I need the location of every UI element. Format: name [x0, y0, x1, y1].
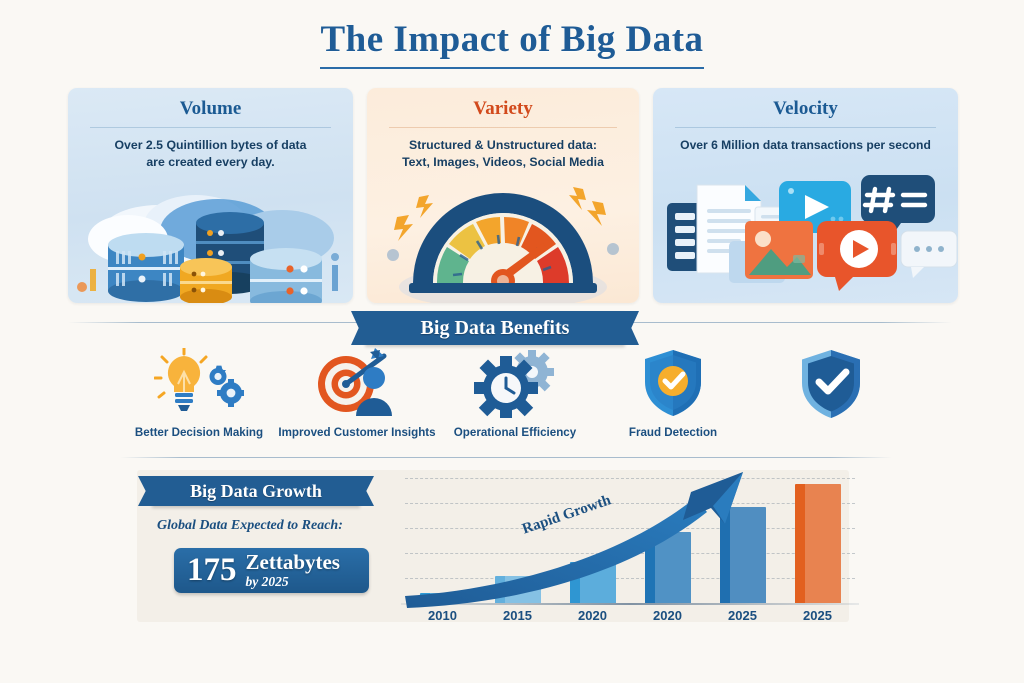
speedometer-gauge-icon	[367, 183, 639, 303]
growth-year: by 2025	[246, 574, 289, 589]
media-documents-video-chat-icon	[653, 183, 958, 303]
three-vs-card-row: Volume Over 2.5 Quintillion bytes of dat…	[68, 88, 958, 303]
benefits-row: Better Decision Making Improved Customer	[120, 348, 910, 453]
benefit-label: Better Decision Making	[135, 426, 263, 439]
card-volume: Volume Over 2.5 Quintillion bytes of dat…	[68, 88, 353, 303]
lightbulb-gears-icon	[154, 348, 244, 418]
card-velocity-heading: Velocity	[653, 88, 958, 127]
card-volume-heading: Volume	[68, 88, 353, 127]
benefit-item-fraud-detection[interactable]: Fraud Detection	[594, 348, 752, 453]
growth-subtitle: Global Data Expected to Reach:	[157, 518, 343, 534]
chart-bar-slot	[637, 478, 699, 603]
growth-value: 175	[187, 554, 237, 587]
card-variety-body-line2: Text, Images, Videos, Social Media	[379, 154, 627, 171]
chart-x-label: 2020	[562, 608, 624, 623]
chart-bar-highlight	[430, 593, 466, 603]
card-velocity-body: Over 6 Million data transactions per sec…	[653, 128, 958, 154]
growth-unit: Zettabytes	[246, 550, 340, 574]
chart-bar-slot	[712, 478, 774, 603]
chart-bar	[720, 507, 766, 603]
chart-bar	[645, 532, 691, 603]
chart-bar-slot	[412, 478, 474, 603]
benefits-banner: Big Data Benefits	[365, 311, 625, 345]
chart-x-label: 2010	[412, 608, 474, 623]
chart-bar-highlight	[655, 532, 691, 603]
database-servers-clouds-icon	[68, 183, 353, 303]
chart-bar-highlight	[505, 576, 541, 603]
chart-bar-highlight	[580, 562, 616, 603]
card-volume-body-line1: Over 2.5 Quintillion bytes of data	[80, 137, 341, 154]
chart-x-labels: 201020152020202020252025	[405, 608, 855, 623]
chart-bar-highlight	[805, 484, 841, 603]
benefit-label: Improved Customer Insights	[278, 426, 435, 439]
chart-bar	[495, 576, 541, 603]
card-variety-body-line1: Structured & Unstructured data:	[379, 137, 627, 154]
target-arrow-person-icon	[312, 348, 402, 418]
chart-bar-slot	[487, 478, 549, 603]
card-volume-body: Over 2.5 Quintillion bytes of data are c…	[68, 128, 353, 171]
chart-bar	[420, 593, 466, 603]
benefit-item-better-decision-making[interactable]: Better Decision Making	[120, 348, 278, 453]
shield-white-check-icon	[786, 348, 876, 418]
growth-unit-wrap: Zettabytes by 2025	[246, 551, 340, 591]
chart-bar	[795, 484, 841, 603]
card-volume-body-line2: are created every day.	[80, 154, 341, 171]
chart-bar-highlight	[730, 507, 766, 603]
page-title: The Impact of Big Data	[320, 18, 703, 69]
benefit-item-shield-verified[interactable]	[752, 348, 910, 453]
benefit-label: Operational Efficiency	[454, 426, 576, 439]
benefit-item-improved-customer-insights[interactable]: Improved Customer Insights	[278, 348, 436, 453]
chart-x-axis	[401, 603, 859, 605]
page-title-wrap: The Impact of Big Data	[0, 18, 1024, 69]
card-variety: Variety Structured & Unstructured data: …	[367, 88, 639, 303]
infographic-canvas: The Impact of Big Data Volume Over 2.5 Q…	[0, 0, 1024, 683]
card-velocity-body-line1: Over 6 Million data transactions per sec…	[665, 137, 946, 154]
chart-x-label: 2025	[787, 608, 849, 623]
growth-value-box: 175 Zettabytes by 2025	[174, 548, 369, 593]
chart-bar-slot	[787, 478, 849, 603]
shield-orange-check-icon	[628, 348, 718, 418]
chart-bar	[570, 562, 616, 603]
growth-banner: Big Data Growth	[152, 476, 360, 506]
gears-clock-icon	[470, 348, 560, 418]
card-velocity: Velocity Over 6 Million data transaction…	[653, 88, 958, 303]
chart-x-label: 2025	[712, 608, 774, 623]
section-divider-bottom	[120, 457, 892, 458]
benefit-label: Fraud Detection	[629, 426, 717, 439]
growth-bar-chart: Rapid Growth 201020152020202020252025	[405, 478, 855, 626]
card-variety-heading: Variety	[367, 88, 639, 127]
chart-x-label: 2015	[487, 608, 549, 623]
chart-x-label: 2020	[637, 608, 699, 623]
chart-bars	[405, 478, 855, 603]
benefit-item-operational-efficiency[interactable]: Operational Efficiency	[436, 348, 594, 453]
card-variety-body: Structured & Unstructured data: Text, Im…	[367, 128, 639, 171]
chart-plot-area	[405, 478, 855, 603]
